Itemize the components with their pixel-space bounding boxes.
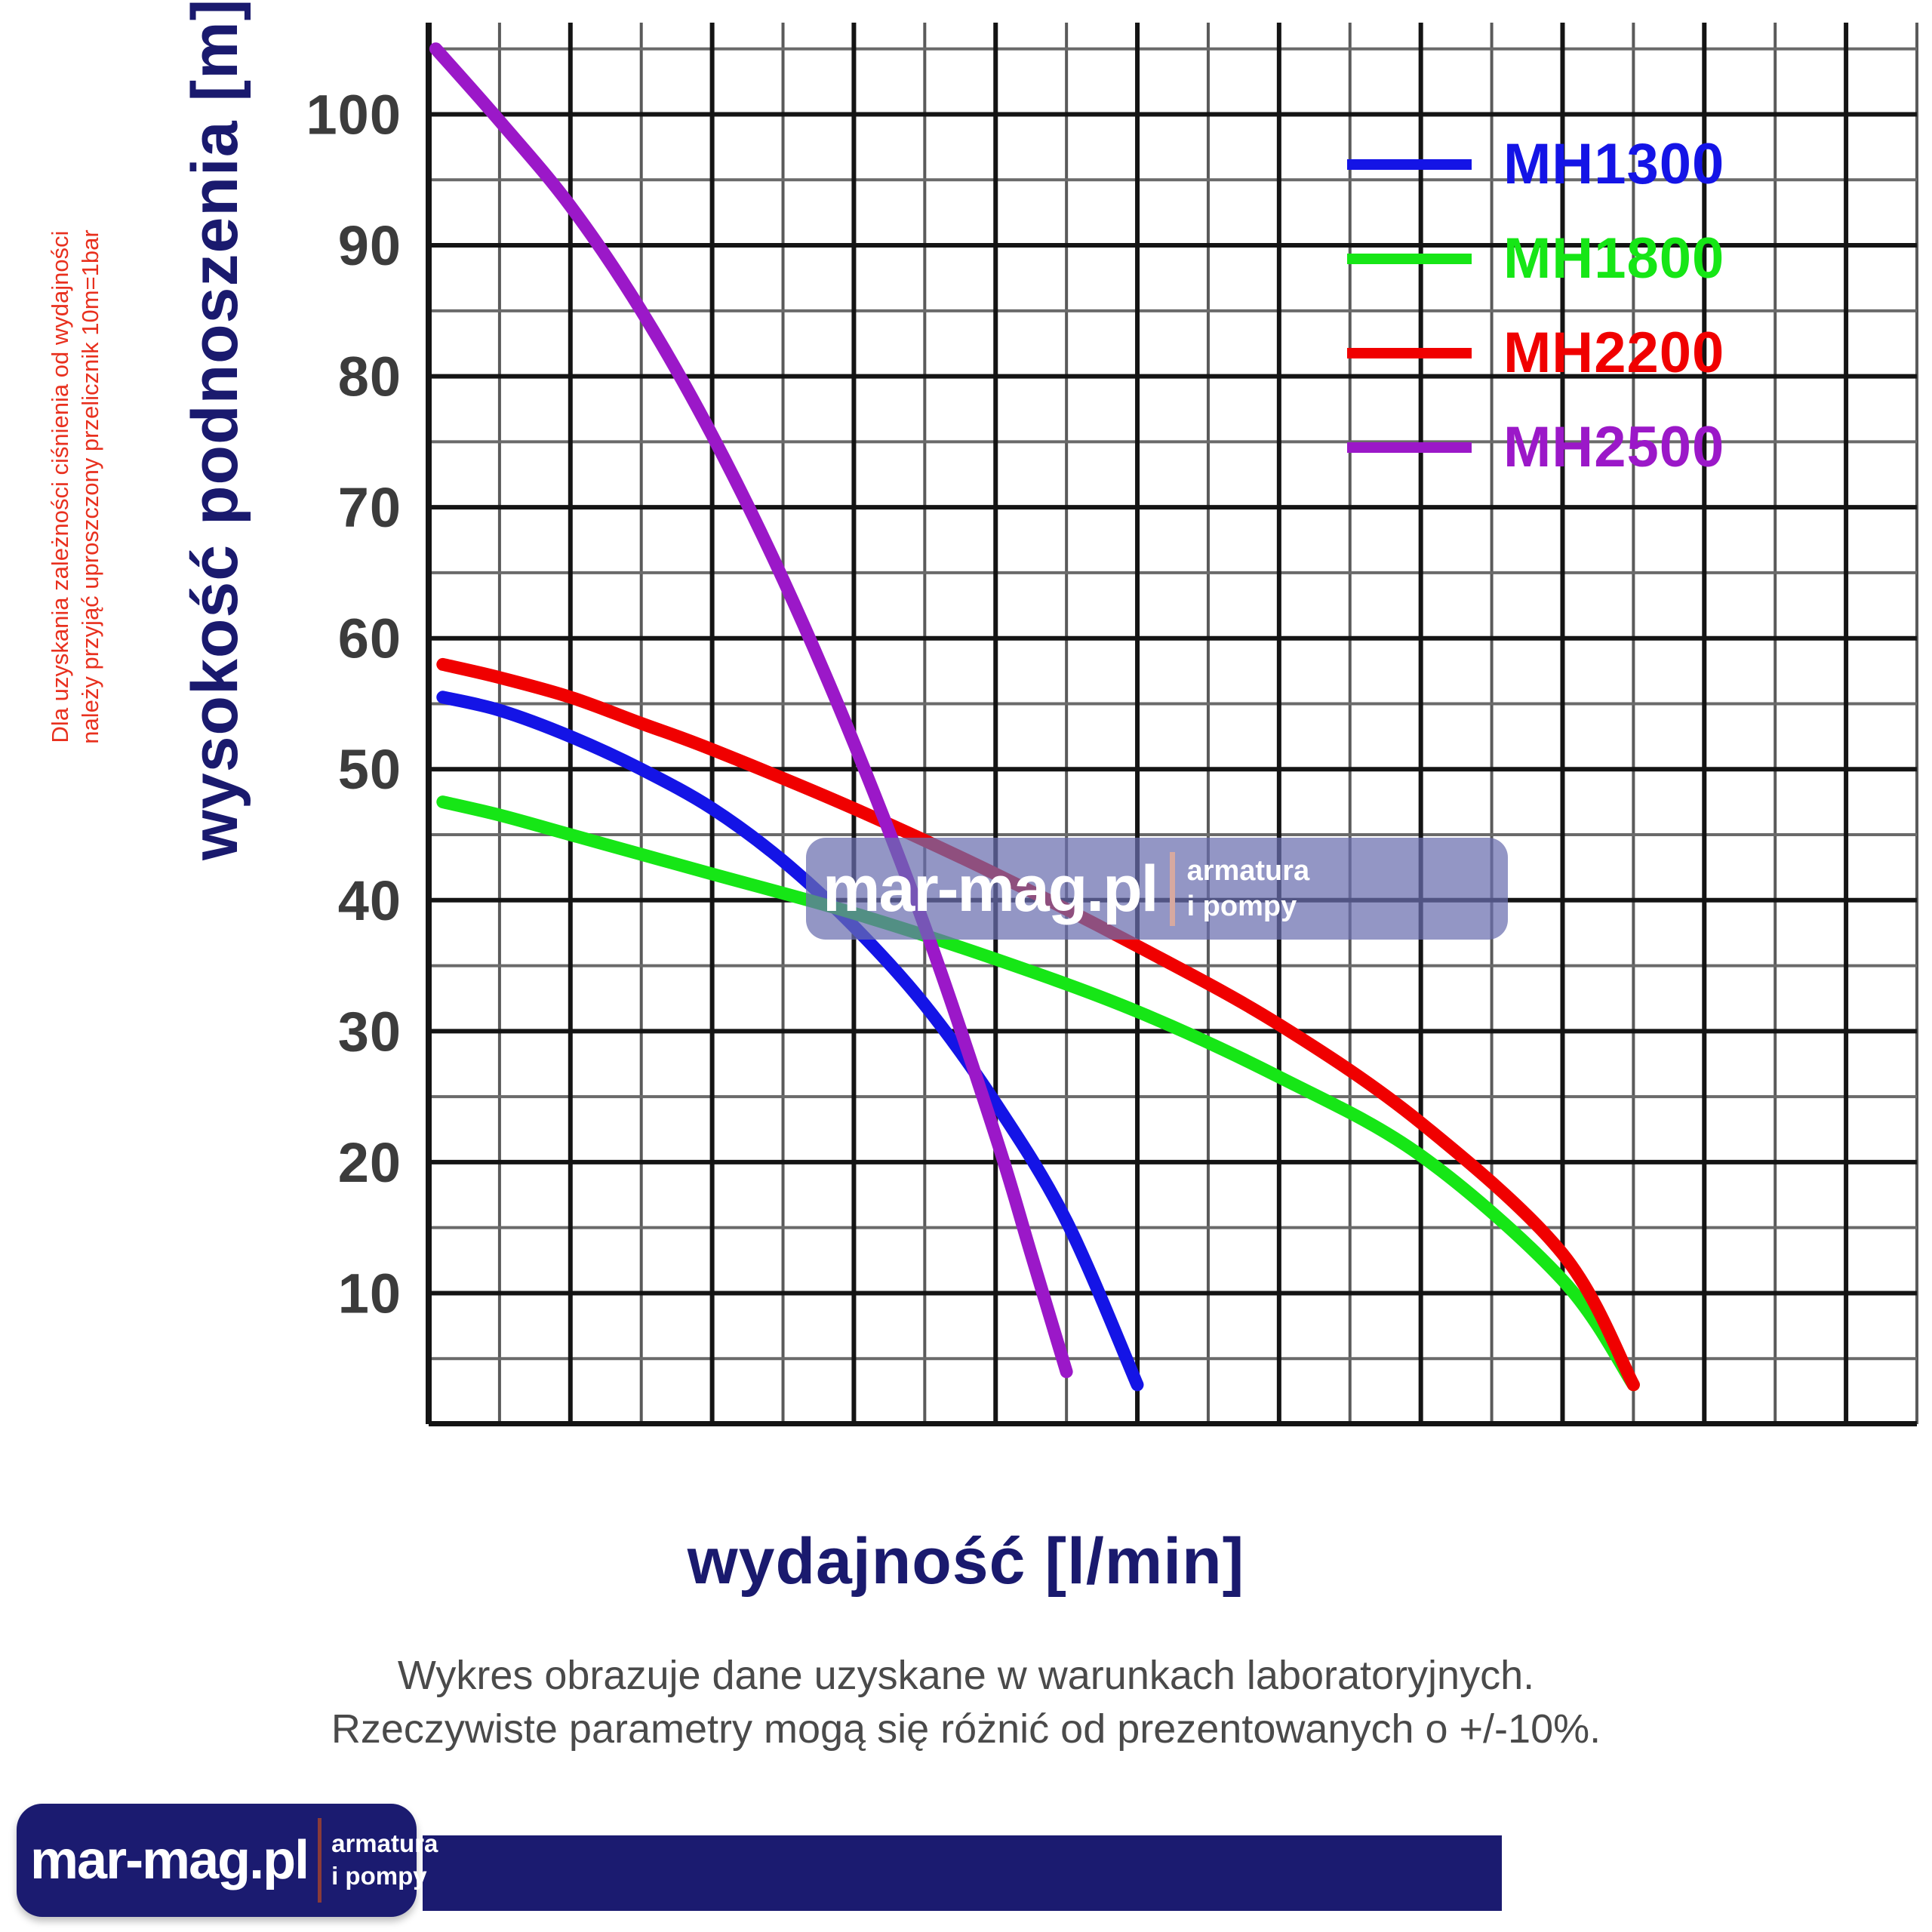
footer-logo-divider — [318, 1818, 321, 1903]
svg-text:100: 100 — [306, 83, 401, 146]
chart-plot-area: 102030405060708090100 204060801001201401… — [0, 0, 1932, 1426]
legend-line-swatch-mh1300 — [1347, 159, 1472, 170]
legend-item-mh1800[interactable]: MH1800 — [1347, 211, 1830, 306]
svg-text:80: 80 — [338, 346, 401, 408]
pressure-note-line2: należy przyjąć uproszczony przelicznik 1… — [75, 109, 106, 864]
legend-label-mh2500: MH2500 — [1503, 414, 1724, 480]
legend-label-mh2200: MH2200 — [1503, 320, 1724, 386]
y-axis-tick-labels: 102030405060708090100 — [306, 83, 401, 1324]
x-axis-title: wydajność [l/min] — [0, 1524, 1932, 1599]
svg-text:40: 40 — [338, 869, 401, 932]
disclaimer-line2: Rzeczywiste parametry mogą się różnić od… — [0, 1703, 1932, 1756]
footer-logo-tagline-line1: armatura — [331, 1828, 438, 1860]
legend-item-mh1300[interactable]: MH1300 — [1347, 117, 1830, 211]
pressure-conversion-note: Dla uzyskania zależności ciśnienia od wy… — [45, 109, 136, 864]
footer-logo[interactable]: mar-mag.pl armatura i pompy — [17, 1804, 417, 1917]
legend-line-swatch-mh2200 — [1347, 348, 1472, 358]
footer-logo-tagline-line2: i pompy — [331, 1860, 438, 1893]
svg-text:60: 60 — [338, 608, 401, 670]
svg-text:50: 50 — [338, 738, 401, 801]
svg-text:70: 70 — [338, 476, 401, 539]
svg-text:20: 20 — [338, 1131, 401, 1194]
footer-accent-bar — [423, 1835, 1502, 1911]
svg-text:10: 10 — [338, 1262, 401, 1324]
page-footer: mar-mag.pl armatura i pompy — [0, 1800, 1932, 1932]
footer-logo-brand: mar-mag.pl — [30, 1833, 308, 1887]
svg-text:30: 30 — [338, 1000, 401, 1063]
footer-logo-tagline: armatura i pompy — [331, 1828, 438, 1893]
chart-legend: MH1300 MH1800 MH2200 MH2500 — [1347, 117, 1830, 494]
disclaimer-line1: Wykres obrazuje dane uzyskane w warunkac… — [0, 1649, 1932, 1703]
legend-label-mh1300: MH1300 — [1503, 131, 1724, 197]
svg-text:90: 90 — [338, 214, 401, 277]
legend-line-swatch-mh2500 — [1347, 442, 1472, 453]
chart-disclaimer: Wykres obrazuje dane uzyskane w warunkac… — [0, 1649, 1932, 1757]
legend-label-mh1800: MH1800 — [1503, 226, 1724, 291]
pressure-note-line1: Dla uzyskania zależności ciśnienia od wy… — [45, 109, 75, 864]
legend-line-swatch-mh1800 — [1347, 254, 1472, 264]
legend-item-mh2200[interactable]: MH2200 — [1347, 306, 1830, 400]
legend-item-mh2500[interactable]: MH2500 — [1347, 400, 1830, 494]
